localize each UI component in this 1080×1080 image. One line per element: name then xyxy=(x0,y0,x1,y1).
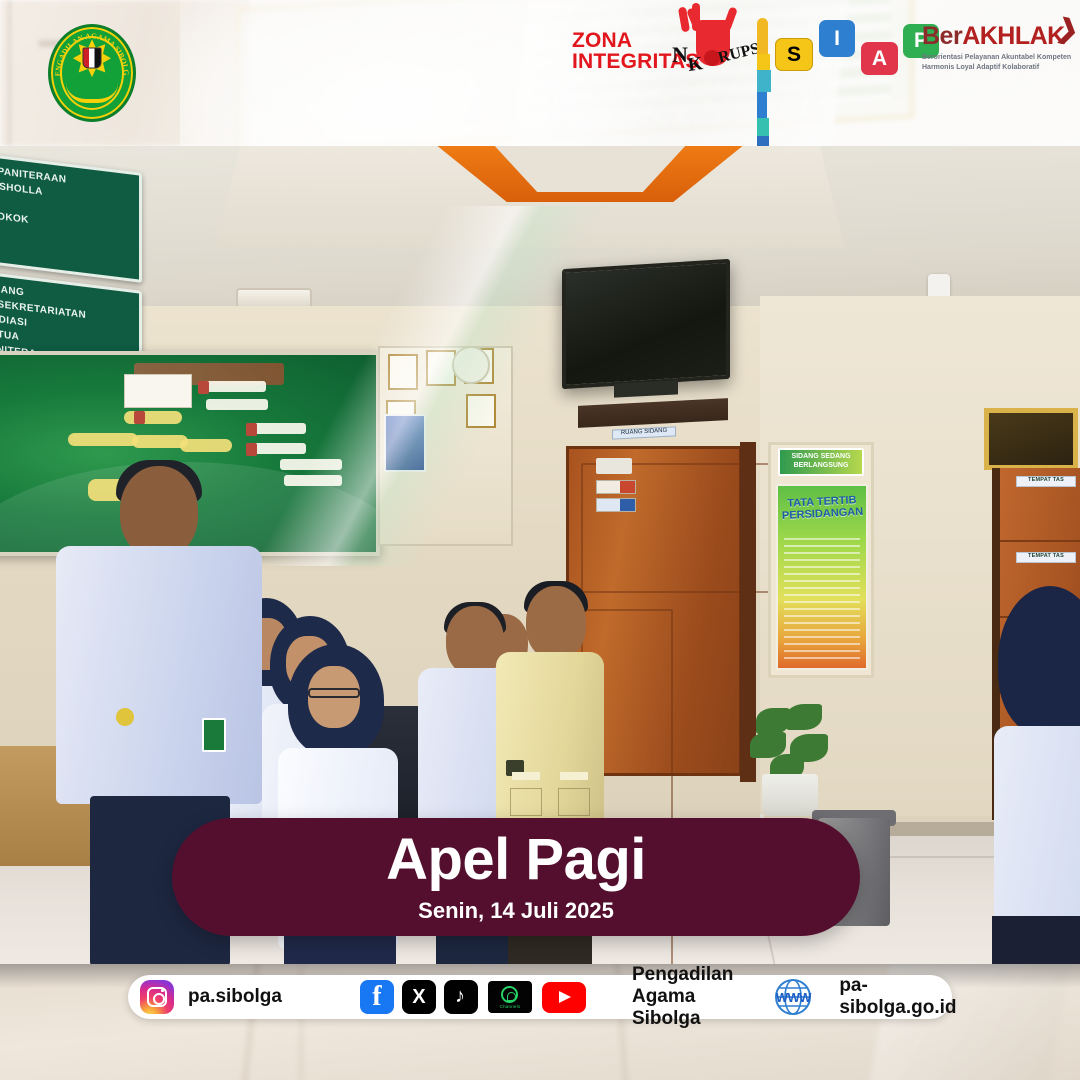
cabinet-label-2: TEMPAT TAS xyxy=(1016,552,1076,563)
door-arrow-sign-1 xyxy=(596,480,636,494)
x-twitter-icon[interactable]: X xyxy=(402,980,436,1014)
siap-logo: S I A P xyxy=(757,18,909,80)
door-arrow-sign-2 xyxy=(596,498,636,512)
plant-leaf-1 xyxy=(756,708,790,734)
youtube-icon[interactable] xyxy=(542,982,586,1013)
wall-mounted-tv xyxy=(562,259,730,389)
whatsapp-ring xyxy=(501,986,518,1003)
uniform-shirt xyxy=(56,546,262,804)
berakhlak-tagline: Berorientasi Pelayanan Akuntabel Kompete… xyxy=(922,53,1074,73)
org-photo-3 xyxy=(246,423,257,436)
org-photo-1 xyxy=(134,411,145,424)
shirt-pocket-right xyxy=(558,788,590,816)
page-title: Apel Pagi xyxy=(386,831,646,889)
org-chip-11 xyxy=(284,475,342,486)
org-photo-4 xyxy=(246,443,257,456)
header-glare xyxy=(180,0,700,146)
lapel-pin xyxy=(116,708,134,726)
siap-bar-5 xyxy=(757,118,769,136)
tiktok-icon[interactable]: ♪ xyxy=(444,980,478,1014)
head xyxy=(526,586,586,660)
berakhlak-tagline-line-2: Harmonis Loyal Adaptif Kolaboratif xyxy=(922,63,1074,73)
social-media-bar: pa.sibolga f X ♪ Channels Pengadilan Aga… xyxy=(128,975,952,1019)
plant-leaf-2 xyxy=(786,704,822,730)
id-card-badge xyxy=(202,718,226,752)
org-chip-4 xyxy=(180,439,232,452)
sidang-berlangsung-sign: SIDANG SEDANG BERLANGSUNG xyxy=(778,448,864,476)
nokorupsi-k: K xyxy=(687,53,705,77)
head xyxy=(120,466,198,558)
photo-ceiling xyxy=(0,146,1080,321)
uniform-skirt xyxy=(992,916,1080,964)
organization-name: Pengadilan Agama Sibolga xyxy=(632,964,733,1030)
siap-bar-6 xyxy=(757,136,769,146)
tata-tertib-poster: TATA TERTIB PERSIDANGAN xyxy=(776,484,868,670)
siap-letter-i: I xyxy=(819,20,855,57)
website-url[interactable]: pa-sibolga.go.id xyxy=(839,975,956,1019)
instagram-handle[interactable]: pa.sibolga xyxy=(188,986,282,1008)
nokorupsi-n: N xyxy=(672,42,688,68)
certificate-frame-5 xyxy=(466,394,496,428)
siap-letter-a: A xyxy=(861,42,898,75)
whatsapp-channels-icon[interactable]: Channels xyxy=(488,981,532,1013)
berakhlak-tagline-line-1: Berorientasi Pelayanan Akuntabel Kompete… xyxy=(922,53,1074,63)
door-sticker xyxy=(596,458,632,474)
portrait-poster xyxy=(384,414,426,472)
siap-bar-4 xyxy=(757,92,767,118)
name-tag-left xyxy=(512,772,540,780)
hijab xyxy=(998,586,1080,736)
glasses-icon xyxy=(308,688,360,698)
siap-letter-s: S xyxy=(775,38,813,71)
siap-bar-1 xyxy=(757,18,768,54)
uniform-shirt xyxy=(994,726,1080,926)
wall-notice-small xyxy=(124,374,192,408)
tiktok-note-glyph: ♪ xyxy=(455,986,468,1008)
org-photo-2 xyxy=(198,381,209,394)
facebook-icon[interactable]: f xyxy=(360,980,394,1014)
berakhlak-akhlak: AKHLAK xyxy=(962,22,1065,50)
org-chip-1 xyxy=(124,411,182,424)
no-korupsi-badge: N K RUPSI xyxy=(672,20,764,82)
org-chip-7 xyxy=(206,399,268,410)
court-seal-logo: PENGADILAN AGAMA SIBOLGA xyxy=(48,24,136,122)
berakhlak-ber: Ber xyxy=(922,22,962,50)
event-date: Senin, 14 Juli 2025 xyxy=(418,898,614,924)
title-banner: Apel Pagi Senin, 14 Juli 2025 xyxy=(172,818,860,936)
khaki-uniform-shirt xyxy=(496,652,604,838)
tata-tertib-title: TATA TERTIB PERSIDANGAN xyxy=(777,484,867,523)
org-chip-10 xyxy=(280,459,342,470)
www-text: WWW xyxy=(773,977,813,1017)
tata-tertib-body-lines xyxy=(784,538,860,662)
shirt-pocket-left xyxy=(510,788,542,816)
whatsapp-channels-label: Channels xyxy=(500,1004,521,1009)
berakhlak-logo: BerAKHLAK ❯ Berorientasi Pelayanan Akunt… xyxy=(922,22,1074,73)
instagram-icon[interactable] xyxy=(140,980,174,1014)
gold-framed-picture xyxy=(984,408,1078,470)
siap-bar-2 xyxy=(757,54,770,70)
name-tag-right xyxy=(560,772,588,780)
www-globe-icon[interactable]: WWW xyxy=(773,977,813,1017)
seal-shield xyxy=(83,48,102,69)
berakhlak-wordmark: BerAKHLAK ❯ xyxy=(922,22,1074,51)
org-chip-2 xyxy=(68,433,138,446)
certificate-frame-1 xyxy=(388,354,418,390)
person-right-edge xyxy=(998,586,1080,964)
siap-bar-3 xyxy=(757,70,771,92)
cabinet-label-1: TEMPAT TAS xyxy=(1016,476,1076,487)
plant-pot xyxy=(762,774,818,816)
header-banner: PENGADILAN AGAMA SIBOLGA ZONA INTEGRITAS… xyxy=(0,0,1080,146)
wall-clock-icon xyxy=(452,346,490,384)
